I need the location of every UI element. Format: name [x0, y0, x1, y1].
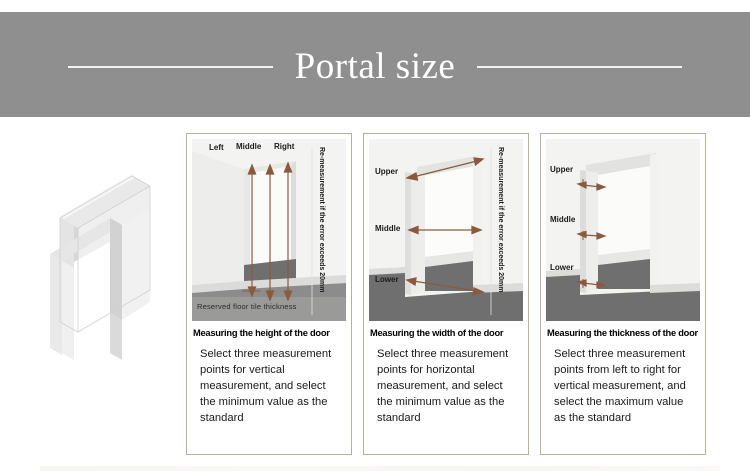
figure-label-lower: Lower: [550, 264, 574, 272]
figure-label-lower: Lower: [375, 276, 399, 284]
figure-label-middle: Middle: [236, 143, 261, 151]
panel-body-thickness: Select three measurement points from lef…: [554, 347, 700, 427]
panel-measuring-height[interactable]: Left Middle Right Re-measurement if the …: [186, 133, 352, 455]
panel-caption-height: Measuring the height of the door: [193, 328, 346, 338]
figure-label-right: Right: [274, 143, 294, 151]
measurement-panels: Left Middle Right Re-measurement if the …: [186, 133, 706, 455]
panel-measuring-width[interactable]: Upper Middle Lower Re-measurement if the…: [363, 133, 529, 455]
figure-label-middle: Middle: [550, 216, 575, 224]
door-frame-icon: [14, 150, 182, 360]
figure-label-middle: Middle: [375, 225, 400, 233]
header-inner: Portal size: [0, 44, 750, 85]
header-rule-right: [477, 66, 682, 68]
figure-label-left: Left: [209, 144, 224, 152]
figure-note-remeasure: Re-measurement if the error exceeds 20mm: [318, 147, 325, 293]
panel-body-width: Select three measurement points for hori…: [377, 347, 523, 427]
figure-height: Left Middle Right Re-measurement if the …: [192, 139, 346, 321]
bottom-residue-line: [40, 466, 720, 471]
figure-label-upper: Upper: [550, 166, 573, 174]
figure-width: Upper Middle Lower Re-measurement if the…: [369, 139, 523, 321]
figure-label-upper: Upper: [375, 168, 398, 176]
page-title: Portal size: [295, 48, 456, 85]
header-band: Portal size: [0, 12, 750, 117]
isometric-door-frame-illustration: [14, 150, 182, 360]
panel-caption-width: Measuring the width of the door: [370, 328, 523, 338]
figure-note-remeasure: Re-measurement if the error exceeds 20mm: [497, 147, 504, 293]
header-rule-left: [68, 66, 273, 68]
panel-body-height: Select three measurement points for vert…: [200, 347, 346, 427]
panel-caption-thickness: Measuring the thickness of the door: [547, 328, 700, 338]
figure-footnote-floor-tile: Reserved floor tile thickness: [197, 303, 297, 311]
panel-measuring-thickness[interactable]: Upper Middle Lower Measuring the thickne…: [540, 133, 706, 455]
figure-thickness: Upper Middle Lower: [546, 139, 700, 321]
